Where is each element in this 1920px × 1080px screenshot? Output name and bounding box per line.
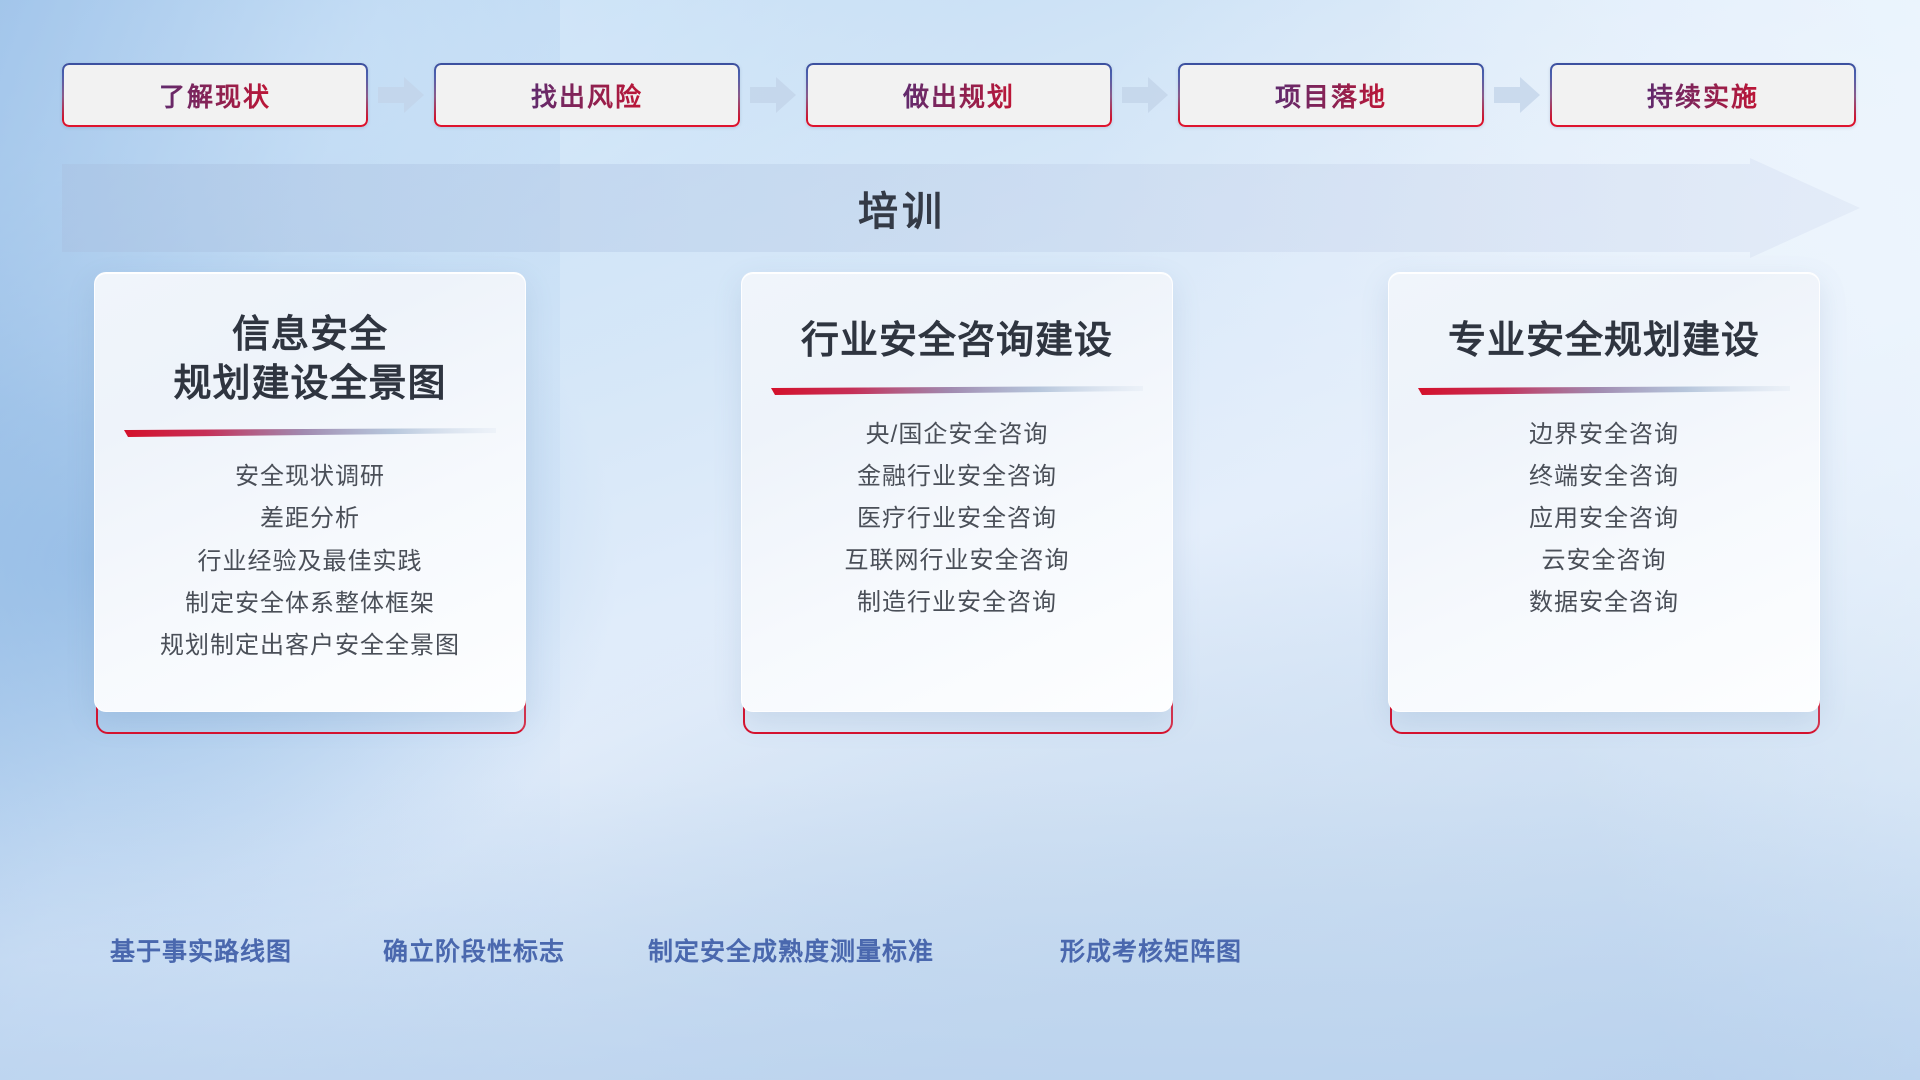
card-title-divider — [771, 386, 1143, 395]
footer-label-3: 制定安全成熟度测量标准 — [648, 932, 934, 968]
footer-label-1: 基于事实路线图 — [110, 932, 292, 968]
step-label-5: 持续实施 — [1550, 63, 1856, 127]
step-arrow-icon-3 — [1112, 62, 1178, 128]
card-list-item: 互联网行业安全咨询 — [845, 545, 1070, 576]
card-list-item: 央/国企安全咨询 — [866, 419, 1049, 450]
card-list-item: 终端安全咨询 — [1529, 461, 1679, 492]
card-surface: 信息安全 规划建设全景图 安全现状调研差距分析行业经验及最佳实践制定安全体系整体… — [94, 272, 526, 712]
footer-label-row: 基于事实路线图确立阶段性标志制定安全成熟度测量标准形成考核矩阵图 — [0, 932, 1920, 976]
card-list-item: 边界安全咨询 — [1529, 419, 1679, 450]
card-title-divider — [124, 428, 496, 437]
card-list-item: 行业经验及最佳实践 — [198, 546, 423, 577]
step-label-4: 项目落地 — [1178, 63, 1484, 127]
step-arrow-icon-2 — [740, 62, 806, 128]
step-arrow-icon-4 — [1484, 62, 1550, 128]
card-list-item: 差距分析 — [260, 503, 360, 534]
card-surface: 专业安全规划建设 边界安全咨询终端安全咨询应用安全咨询云安全咨询数据安全咨询 — [1388, 272, 1820, 712]
card-item-list: 央/国企安全咨询金融行业安全咨询医疗行业安全咨询互联网行业安全咨询制造行业安全咨… — [742, 419, 1172, 619]
step-box-3[interactable]: 做出规划 — [806, 63, 1112, 127]
card-title: 信息安全 规划建设全景图 — [95, 311, 525, 408]
step-box-2[interactable]: 找出风险 — [434, 63, 740, 127]
card-surface: 行业安全咨询建设 央/国企安全咨询金融行业安全咨询医疗行业安全咨询互联网行业安全… — [741, 272, 1173, 712]
card-list-item: 制造行业安全咨询 — [857, 587, 1057, 618]
card-title: 专业安全规划建设 — [1389, 317, 1819, 366]
step-label-1: 了解现状 — [62, 63, 368, 127]
card-list-item: 金融行业安全咨询 — [857, 461, 1057, 492]
card-list-item: 医疗行业安全咨询 — [857, 503, 1057, 534]
footer-label-2: 确立阶段性标志 — [383, 932, 565, 968]
process-step-row: 了解现状 找出风险 做出规划 项目落地 持续实施 — [62, 62, 1858, 128]
card-title: 行业安全咨询建设 — [742, 317, 1172, 366]
card-item-list: 安全现状调研差距分析行业经验及最佳实践制定安全体系整体框架规划制定出客户安全全景… — [95, 461, 525, 661]
capability-card-3[interactable]: 专业安全规划建设 边界安全咨询终端安全咨询应用安全咨询云安全咨询数据安全咨询 — [1388, 272, 1820, 720]
capability-card-2[interactable]: 行业安全咨询建设 央/国企安全咨询金融行业安全咨询医疗行业安全咨询互联网行业安全… — [741, 272, 1173, 720]
card-list-item: 数据安全咨询 — [1529, 587, 1679, 618]
step-label-2: 找出风险 — [434, 63, 740, 127]
card-title-divider — [1418, 386, 1790, 395]
footer-label-4: 形成考核矩阵图 — [1060, 932, 1242, 968]
card-list-item: 制定安全体系整体框架 — [185, 588, 435, 619]
step-box-4[interactable]: 项目落地 — [1178, 63, 1484, 127]
card-item-list: 边界安全咨询终端安全咨询应用安全咨询云安全咨询数据安全咨询 — [1389, 419, 1819, 619]
card-list-item: 应用安全咨询 — [1529, 503, 1679, 534]
step-box-1[interactable]: 了解现状 — [62, 63, 368, 127]
card-list-item: 云安全咨询 — [1542, 545, 1667, 576]
step-arrow-icon-1 — [368, 62, 434, 128]
background-bottom-gradient — [0, 780, 1920, 1080]
step-label-3: 做出规划 — [806, 63, 1112, 127]
card-list-item: 规划制定出客户安全全景图 — [160, 630, 460, 661]
capability-card-row: 信息安全 规划建设全景图 安全现状调研差距分析行业经验及最佳实践制定安全体系整体… — [94, 272, 1820, 720]
training-banner: 培训 — [62, 158, 1860, 258]
card-list-item: 安全现状调研 — [235, 461, 385, 492]
training-banner-label: 培训 — [62, 158, 1742, 258]
step-box-5[interactable]: 持续实施 — [1550, 63, 1856, 127]
capability-card-1[interactable]: 信息安全 规划建设全景图 安全现状调研差距分析行业经验及最佳实践制定安全体系整体… — [94, 272, 526, 720]
